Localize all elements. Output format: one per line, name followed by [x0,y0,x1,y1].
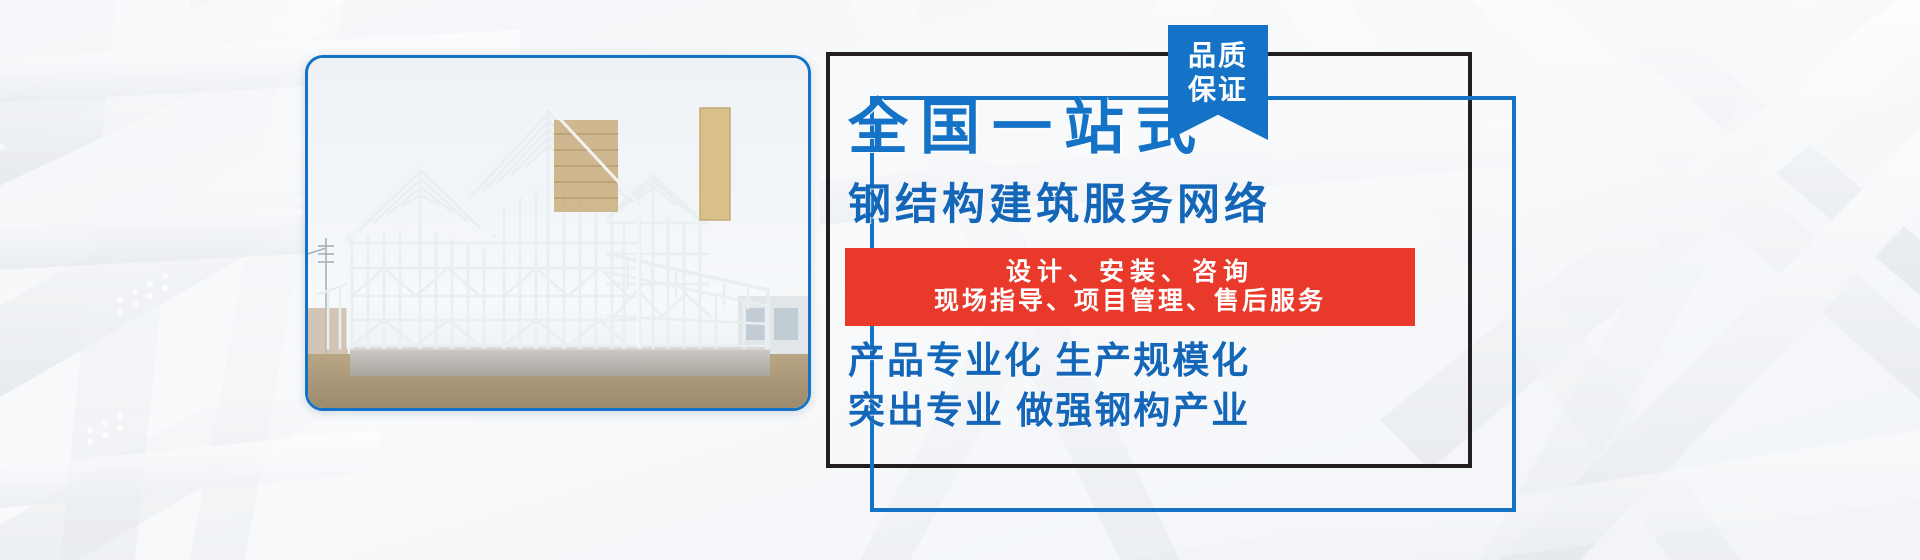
services-line-2: 现场指导、项目管理、售后服务 [934,287,1326,316]
steel-frame-house-photo [308,58,808,408]
badge-line-2: 保证 [1188,73,1248,107]
headline: 全国一站式 [848,98,1448,158]
badge-line-1: 品质 [1188,39,1248,73]
services-red-band: 设计、安装、咨询 现场指导、项目管理、售后服务 [845,248,1415,326]
subheadline: 钢结构建筑服务网络 [848,184,1488,227]
project-photo-card[interactable] [305,55,811,411]
slogan-line-1: 产品专业化 生产规模化 [848,342,1488,379]
promo-banner: 全国一站式 钢结构建筑服务网络 设计、安装、咨询 现场指导、项目管理、售后服务 … [0,0,1920,560]
slogan-line-2: 突出专业 做强钢构产业 [848,392,1488,429]
services-line-1: 设计、安装、咨询 [1006,258,1254,287]
